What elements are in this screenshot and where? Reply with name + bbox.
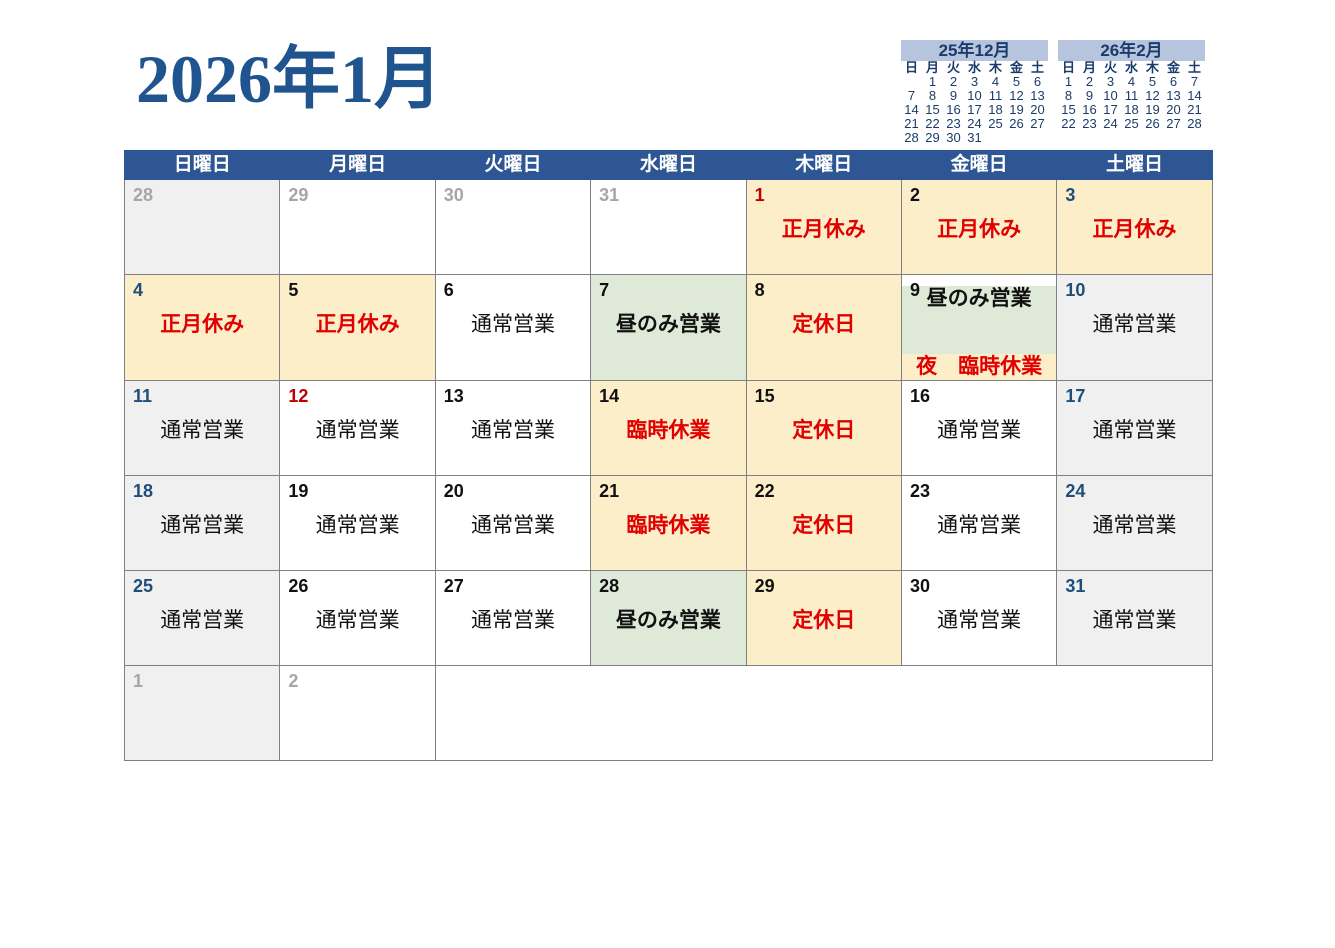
calendar-day-cell[interactable]: 4正月休み xyxy=(125,275,280,381)
mini-day-cell: 5 xyxy=(1006,75,1027,89)
calendar-day-cell[interactable]: 29定休日 xyxy=(746,571,901,666)
mini-weekday-thu: 木 xyxy=(1142,61,1163,75)
calendar-day-cell[interactable]: 1正月休み xyxy=(746,180,901,275)
page-title: 2026年1月 xyxy=(136,42,442,116)
day-note: 昼のみ営業 xyxy=(902,286,1056,312)
calendar-week-row: 25通常営業26通常営業27通常営業28昼のみ営業29定休日30通常営業31通常… xyxy=(125,571,1213,666)
day-note: 通常営業 xyxy=(280,418,434,444)
mini-weekday-wed: 水 xyxy=(1121,61,1142,75)
mini-day-cell xyxy=(1184,131,1205,145)
calendar-week-row: 18通常営業19通常営業20通常営業21臨時休業22定休日23通常営業24通常営… xyxy=(125,476,1213,571)
mini-day-cell: 21 xyxy=(1184,103,1205,117)
mini-day-cell: 31 xyxy=(964,131,985,145)
mini-weekday-thu: 木 xyxy=(985,61,1006,75)
mini-weekday-header-row: 日 月 火 水 木 金 土 xyxy=(1058,61,1205,75)
calendar-week-row: 12 xyxy=(125,666,1213,761)
mini-day-cell: 24 xyxy=(1100,117,1121,131)
weekday-header-thursday: 木曜日 xyxy=(746,151,901,180)
mini-week-row: 8 9 10 11 12 13 14 xyxy=(1058,89,1205,103)
day-number: 29 xyxy=(280,180,434,205)
mini-day-cell: 28 xyxy=(1184,117,1205,131)
mini-day-cell: 30 xyxy=(943,131,964,145)
mini-day-cell: 27 xyxy=(1027,117,1048,131)
mini-day-cell: 1 xyxy=(922,75,943,89)
calendar-day-cell[interactable]: 8定休日 xyxy=(746,275,901,381)
mini-day-cell xyxy=(1006,131,1027,145)
day-note: 通常営業 xyxy=(902,418,1056,444)
mini-weekday-header-row: 日 月 火 水 木 金 土 xyxy=(901,61,1048,75)
mini-day-cell: 20 xyxy=(1163,103,1184,117)
mini-calendar-prev-month: 25年12月 日 月 火 水 木 金 土 1 2 3 4 5 6 xyxy=(901,40,1048,145)
mini-day-cell: 20 xyxy=(1027,103,1048,117)
mini-day-cell: 22 xyxy=(1058,117,1079,131)
day-number: 2 xyxy=(280,666,434,691)
mini-day-cell: 18 xyxy=(1121,103,1142,117)
day-number: 18 xyxy=(125,476,279,501)
calendar-day-cell[interactable]: 22定休日 xyxy=(746,476,901,571)
calendar-week-row: 4正月休み5正月休み6通常営業7昼のみ営業8定休日9昼のみ営業夜 臨時休業10通… xyxy=(125,275,1213,381)
day-number: 15 xyxy=(747,381,901,406)
mini-calendar-prev-table: 日 月 火 水 木 金 土 1 2 3 4 5 6 7 8 9 xyxy=(901,61,1048,145)
day-number: 20 xyxy=(436,476,590,501)
calendar-day-cell[interactable]: 24通常営業 xyxy=(1057,476,1212,571)
day-number: 5 xyxy=(280,275,434,300)
day-note: 通常営業 xyxy=(280,513,434,539)
calendar-day-cell[interactable]: 28 xyxy=(125,180,280,275)
day-note: 定休日 xyxy=(747,418,901,444)
mini-day-cell: 24 xyxy=(964,117,985,131)
mini-week-row xyxy=(1058,131,1205,145)
mini-day-cell: 3 xyxy=(1100,75,1121,89)
mini-day-cell xyxy=(901,75,922,89)
day-number: 11 xyxy=(125,381,279,406)
mini-calendar-prev-title: 25年12月 xyxy=(901,40,1048,61)
mini-weekday-fri: 金 xyxy=(1163,61,1184,75)
calendar-day-cell[interactable]: 16通常営業 xyxy=(901,381,1056,476)
mini-day-cell: 9 xyxy=(943,89,964,103)
mini-day-cell: 19 xyxy=(1006,103,1027,117)
mini-day-cell: 23 xyxy=(1079,117,1100,131)
calendar-day-cell[interactable]: 7昼のみ営業 xyxy=(591,275,746,381)
mini-weekday-sun: 日 xyxy=(1058,61,1079,75)
day-note: 通常営業 xyxy=(436,418,590,444)
day-number: 31 xyxy=(1057,571,1211,596)
day-note: 正月休み xyxy=(747,217,901,243)
day-number: 29 xyxy=(747,571,901,596)
mini-weekday-wed: 水 xyxy=(964,61,985,75)
mini-day-cell: 2 xyxy=(943,75,964,89)
weekday-header-row: 日曜日 月曜日 火曜日 水曜日 木曜日 金曜日 土曜日 xyxy=(125,151,1213,180)
mini-weekday-fri: 金 xyxy=(1006,61,1027,75)
mini-day-cell: 26 xyxy=(1006,117,1027,131)
calendar-grid: 日曜日 月曜日 火曜日 水曜日 木曜日 金曜日 土曜日 282930311正月休… xyxy=(124,150,1213,761)
mini-day-cell: 3 xyxy=(964,75,985,89)
day-number: 9 xyxy=(902,275,920,300)
day-note: 通常営業 xyxy=(1057,513,1211,539)
day-note: 通常営業 xyxy=(1057,312,1211,338)
mini-day-cell xyxy=(1058,131,1079,145)
day-number: 19 xyxy=(280,476,434,501)
weekday-header-tuesday: 火曜日 xyxy=(435,151,590,180)
day-number: 10 xyxy=(1057,275,1211,300)
mini-day-cell xyxy=(1027,131,1048,145)
mini-day-cell: 1 xyxy=(1058,75,1079,89)
calendar-day-cell[interactable]: 3正月休み xyxy=(1057,180,1212,275)
mini-day-cell: 22 xyxy=(922,117,943,131)
mini-day-cell: 29 xyxy=(922,131,943,145)
calendar-week-row: 282930311正月休み2正月休み3正月休み xyxy=(125,180,1213,275)
day-number: 7 xyxy=(591,275,745,300)
day-number: 30 xyxy=(902,571,1056,596)
mini-day-cell: 7 xyxy=(1184,75,1205,89)
mini-day-cell: 11 xyxy=(985,89,1006,103)
day-note: 正月休み xyxy=(902,217,1056,243)
mini-day-cell xyxy=(985,131,1006,145)
day-note-evening: 夜 臨時休業 xyxy=(916,355,1042,379)
weekday-header-friday: 金曜日 xyxy=(901,151,1056,180)
mini-week-row: 21 22 23 24 25 26 27 xyxy=(901,117,1048,131)
mini-week-row: 22 23 24 25 26 27 28 xyxy=(1058,117,1205,131)
day-number: 21 xyxy=(591,476,745,501)
mini-day-cell: 18 xyxy=(985,103,1006,117)
calendar-week-row: 11通常営業12通常営業13通常営業14臨時休業15定休日16通常営業17通常営… xyxy=(125,381,1213,476)
day-note: 正月休み xyxy=(1057,217,1211,243)
day-note: 通常営業 xyxy=(1057,608,1211,634)
mini-day-cell: 23 xyxy=(943,117,964,131)
day-note: 通常営業 xyxy=(125,418,279,444)
mini-day-cell xyxy=(1142,131,1163,145)
mini-day-cell: 15 xyxy=(922,103,943,117)
mini-weekday-tue: 火 xyxy=(943,61,964,75)
day-note: 通常営業 xyxy=(1057,418,1211,444)
day-note: 通常営業 xyxy=(125,608,279,634)
mini-day-cell: 4 xyxy=(985,75,1006,89)
day-number xyxy=(436,666,1212,671)
calendar-day-cell[interactable]: 31 xyxy=(591,180,746,275)
mini-day-cell: 19 xyxy=(1142,103,1163,117)
mini-week-row: 28 29 30 31 xyxy=(901,131,1048,145)
weekday-header-monday: 月曜日 xyxy=(280,151,435,180)
calendar-day-cell[interactable]: 2正月休み xyxy=(901,180,1056,275)
calendar-day-cell[interactable]: 15定休日 xyxy=(746,381,901,476)
mini-day-cell: 17 xyxy=(1100,103,1121,117)
calendar-day-cell[interactable]: 11通常営業 xyxy=(125,381,280,476)
day-note: 通常営業 xyxy=(280,608,434,634)
day-note-evening-section: 夜 臨時休業 xyxy=(902,354,1056,380)
day-number: 2 xyxy=(902,180,1056,205)
day-number: 28 xyxy=(591,571,745,596)
mini-day-cell: 13 xyxy=(1027,89,1048,103)
mini-calendar-next-month: 26年2月 日 月 火 水 木 金 土 1 2 3 4 5 6 7 xyxy=(1058,40,1205,145)
calendar-day-cell[interactable]: 25通常営業 xyxy=(125,571,280,666)
day-number: 25 xyxy=(125,571,279,596)
day-note: 正月休み xyxy=(125,312,279,338)
mini-week-row: 1 2 3 4 5 6 7 xyxy=(1058,75,1205,89)
day-note: 臨時休業 xyxy=(591,513,745,539)
mini-day-cell: 28 xyxy=(901,131,922,145)
weekday-header-sunday: 日曜日 xyxy=(125,151,280,180)
mini-day-cell: 10 xyxy=(1100,89,1121,103)
mini-day-cell: 17 xyxy=(964,103,985,117)
mini-day-cell: 8 xyxy=(1058,89,1079,103)
mini-day-cell: 12 xyxy=(1006,89,1027,103)
mini-day-cell: 16 xyxy=(1079,103,1100,117)
day-note: 通常営業 xyxy=(436,312,590,338)
calendar-day-cell[interactable]: 20通常営業 xyxy=(435,476,590,571)
day-note: 正月休み xyxy=(280,312,434,338)
mini-weekday-sat: 土 xyxy=(1027,61,1048,75)
mini-week-row: 1 2 3 4 5 6 xyxy=(901,75,1048,89)
day-number: 27 xyxy=(436,571,590,596)
day-number: 6 xyxy=(436,275,590,300)
mini-day-cell: 9 xyxy=(1079,89,1100,103)
mini-day-cell: 16 xyxy=(943,103,964,117)
calendar-day-cell[interactable]: 23通常営業 xyxy=(901,476,1056,571)
mini-day-cell: 2 xyxy=(1079,75,1100,89)
day-number: 8 xyxy=(747,275,901,300)
mini-day-cell: 26 xyxy=(1142,117,1163,131)
day-note: 通常営業 xyxy=(902,608,1056,634)
calendar-day-cell[interactable]: 28昼のみ営業 xyxy=(591,571,746,666)
mini-day-cell xyxy=(1100,131,1121,145)
calendar-body: 282930311正月休み2正月休み3正月休み4正月休み5正月休み6通常営業7昼… xyxy=(125,180,1213,761)
mini-day-cell: 27 xyxy=(1163,117,1184,131)
day-note: 定休日 xyxy=(747,608,901,634)
mini-day-cell: 4 xyxy=(1121,75,1142,89)
day-number: 26 xyxy=(280,571,434,596)
calendar-day-cell[interactable]: 14臨時休業 xyxy=(591,381,746,476)
calendar-day-cell[interactable]: 29 xyxy=(280,180,435,275)
day-number: 3 xyxy=(1057,180,1211,205)
mini-week-row: 15 16 17 18 19 20 21 xyxy=(1058,103,1205,117)
mini-day-cell: 21 xyxy=(901,117,922,131)
day-note: 通常営業 xyxy=(125,513,279,539)
mini-day-cell: 5 xyxy=(1142,75,1163,89)
day-note: 昼のみ営業 xyxy=(591,312,745,338)
day-number: 4 xyxy=(125,275,279,300)
mini-day-cell: 14 xyxy=(1184,89,1205,103)
calendar-day-cell[interactable]: 13通常営業 xyxy=(435,381,590,476)
mini-day-cell xyxy=(1163,131,1184,145)
mini-day-cell: 12 xyxy=(1142,89,1163,103)
mini-day-cell: 7 xyxy=(901,89,922,103)
day-number: 17 xyxy=(1057,381,1211,406)
mini-day-cell: 25 xyxy=(1121,117,1142,131)
calendar-day-cell[interactable]: 12通常営業 xyxy=(280,381,435,476)
calendar-day-cell[interactable]: 9昼のみ営業夜 臨時休業 xyxy=(901,275,1056,381)
calendar-day-cell[interactable]: 17通常営業 xyxy=(1057,381,1212,476)
day-number: 22 xyxy=(747,476,901,501)
mini-day-cell: 25 xyxy=(985,117,1006,131)
day-number: 16 xyxy=(902,381,1056,406)
calendar-day-cell[interactable]: 5正月休み xyxy=(280,275,435,381)
calendar-day-cell[interactable]: 2 xyxy=(280,666,435,761)
calendar-day-cell[interactable]: 10通常営業 xyxy=(1057,275,1212,381)
day-number: 14 xyxy=(591,381,745,406)
mini-day-cell: 14 xyxy=(901,103,922,117)
day-note: 通常営業 xyxy=(436,513,590,539)
mini-calendar-next-table: 日 月 火 水 木 金 土 1 2 3 4 5 6 7 8 9 10 xyxy=(1058,61,1205,145)
calendar-day-cell[interactable]: 6通常営業 xyxy=(435,275,590,381)
calendar-day-cell[interactable]: 30 xyxy=(435,180,590,275)
day-number: 30 xyxy=(436,180,590,205)
day-number: 28 xyxy=(125,180,279,205)
mini-weekday-sat: 土 xyxy=(1184,61,1205,75)
calendar-day-cell[interactable]: 19通常営業 xyxy=(280,476,435,571)
day-number: 31 xyxy=(591,180,745,205)
weekday-header-wednesday: 水曜日 xyxy=(591,151,746,180)
day-note: 臨時休業 xyxy=(591,418,745,444)
mini-day-cell: 6 xyxy=(1027,75,1048,89)
day-number: 13 xyxy=(436,381,590,406)
day-note: 昼のみ営業 xyxy=(591,608,745,634)
mini-weekday-mon: 月 xyxy=(922,61,943,75)
day-number: 24 xyxy=(1057,476,1211,501)
mini-weekday-sun: 日 xyxy=(901,61,922,75)
day-number: 1 xyxy=(747,180,901,205)
mini-weekday-tue: 火 xyxy=(1100,61,1121,75)
mini-calendar-next-title: 26年2月 xyxy=(1058,40,1205,61)
mini-day-cell: 8 xyxy=(922,89,943,103)
calendar-day-cell[interactable]: 30通常営業 xyxy=(901,571,1056,666)
calendar-day-cell[interactable]: 26通常営業 xyxy=(280,571,435,666)
day-note: 通常営業 xyxy=(436,608,590,634)
mini-day-cell: 10 xyxy=(964,89,985,103)
calendar-day-cell[interactable] xyxy=(435,666,1212,761)
day-note: 定休日 xyxy=(747,312,901,338)
day-note: 定休日 xyxy=(747,513,901,539)
mini-day-cell xyxy=(1079,131,1100,145)
day-number: 1 xyxy=(125,666,279,691)
mini-day-cell: 6 xyxy=(1163,75,1184,89)
mini-day-cell: 13 xyxy=(1163,89,1184,103)
day-note-daytime-section: 昼のみ営業 xyxy=(902,286,1056,354)
mini-day-cell: 11 xyxy=(1121,89,1142,103)
mini-day-cell xyxy=(1121,131,1142,145)
weekday-header-saturday: 土曜日 xyxy=(1057,151,1212,180)
mini-week-row: 7 8 9 10 11 12 13 xyxy=(901,89,1048,103)
mini-weekday-mon: 月 xyxy=(1079,61,1100,75)
calendar-day-cell[interactable]: 18通常営業 xyxy=(125,476,280,571)
day-number: 12 xyxy=(280,381,434,406)
calendar-day-cell[interactable]: 27通常営業 xyxy=(435,571,590,666)
calendar-day-cell[interactable]: 31通常営業 xyxy=(1057,571,1212,666)
calendar-day-cell[interactable]: 21臨時休業 xyxy=(591,476,746,571)
mini-week-row: 14 15 16 17 18 19 20 xyxy=(901,103,1048,117)
calendar-day-cell[interactable]: 1 xyxy=(125,666,280,761)
mini-day-cell: 15 xyxy=(1058,103,1079,117)
day-number: 23 xyxy=(902,476,1056,501)
day-note: 通常営業 xyxy=(902,513,1056,539)
